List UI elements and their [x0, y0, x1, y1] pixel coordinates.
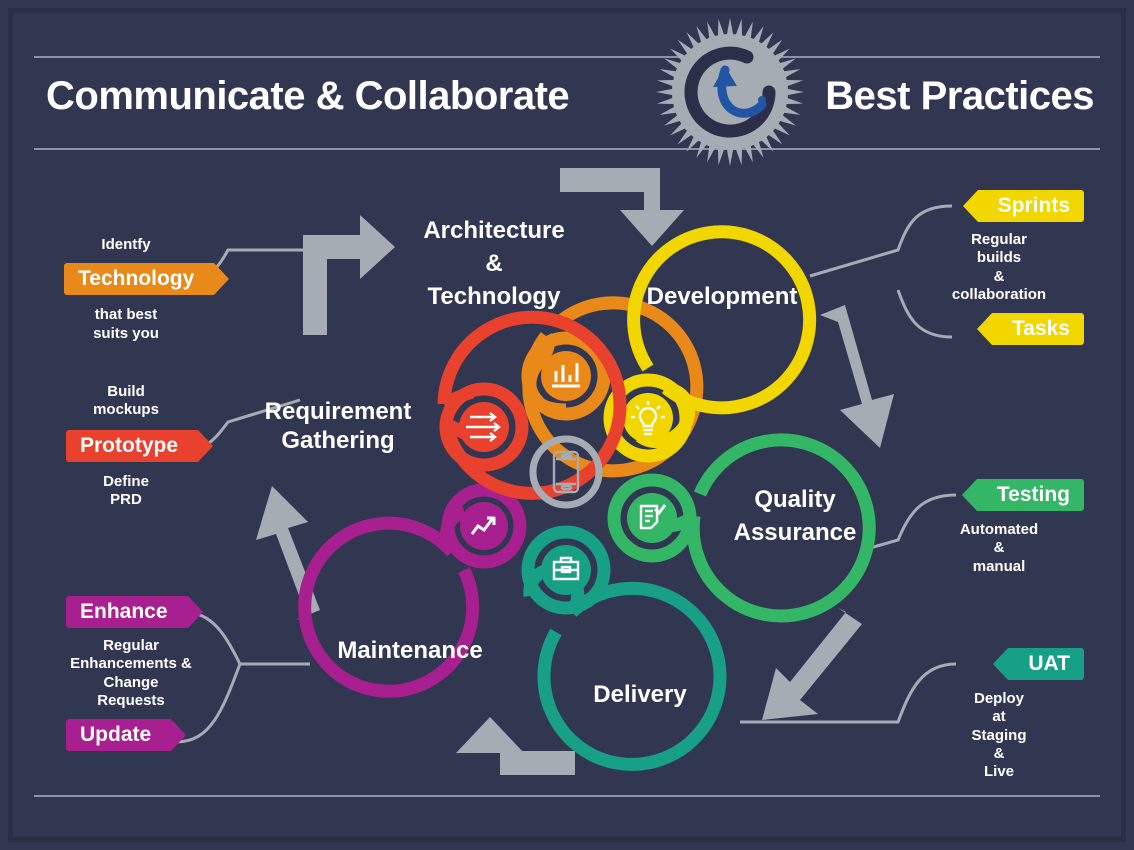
callout-technology-bottom: that best suits you [36, 306, 216, 343]
callout-uat-bottom: Deploy at Staging & Live [904, 690, 1094, 781]
stage-label-architecture-3: Technology [428, 283, 562, 310]
badge-sprints[interactable]: Sprints [978, 190, 1084, 222]
badge-testing[interactable]: Testing [977, 479, 1084, 511]
arrow-requirement-to-architecture [303, 215, 395, 335]
callout-testing-bottom: Automated & manual [904, 521, 1094, 576]
qa-icon-badge [627, 493, 677, 543]
callout-sprints-tasks: Sprints Regular builds & collaboration T… [904, 190, 1094, 345]
badge-technology[interactable]: Technology [64, 263, 214, 295]
callout-prototype-top: Build mockups [36, 383, 216, 420]
callout-technology-top: Identfy [36, 236, 216, 254]
stage-label-delivery: Delivery [593, 681, 687, 708]
stage-delivery[interactable]: Delivery [528, 532, 720, 764]
maintenance-icon-badge [460, 502, 508, 550]
arrow-qa-to-delivery [762, 608, 862, 720]
callout-testing: Testing Automated & manual [904, 479, 1094, 576]
callout-enhance-middle: Regular Enhancements & Change Requests [36, 637, 226, 710]
badge-prototype[interactable]: Prototype [66, 430, 198, 462]
callout-enhance-update: Enhance Regular Enhancements & Change Re… [36, 596, 226, 751]
development-icon-badge [623, 393, 673, 443]
stage-label-requirement-1: Requirement [265, 398, 412, 425]
callout-prototype: Build mockups Prototype Define PRD [36, 383, 216, 509]
stage-development[interactable]: Development [610, 232, 810, 456]
stage-label-architecture-1: Architecture [423, 217, 564, 244]
architecture-icon-badge [541, 351, 591, 401]
stage-label-development: Development [647, 283, 798, 310]
stage-label-qa-2: Assurance [734, 519, 857, 546]
badge-enhance[interactable]: Enhance [66, 596, 188, 628]
callout-uat: UAT Deploy at Staging & Live [904, 648, 1094, 781]
badge-update[interactable]: Update [66, 719, 171, 751]
badge-tasks[interactable]: Tasks [992, 313, 1084, 345]
arrow-development-to-qa [820, 305, 894, 448]
converging-arrows-icon [466, 413, 499, 441]
stage-maintenance[interactable]: Maintenance [305, 490, 520, 691]
callout-technology: Identfy Technology that best suits you [36, 236, 216, 343]
stage-label-qa-1: Quality [754, 486, 836, 513]
callout-sprints-middle: Regular builds & collaboration [904, 231, 1094, 304]
stage-label-maintenance: Maintenance [337, 637, 482, 664]
arrow-architecture-to-development [560, 168, 684, 246]
infographic-page: Communicate & Collaborate Best Practices… [0, 0, 1134, 850]
stage-label-architecture-2: & [485, 250, 502, 277]
badge-uat[interactable]: UAT [1008, 648, 1084, 680]
stage-label-requirement-2: Gathering [281, 427, 394, 454]
callout-prototype-bottom: Define PRD [36, 473, 216, 510]
